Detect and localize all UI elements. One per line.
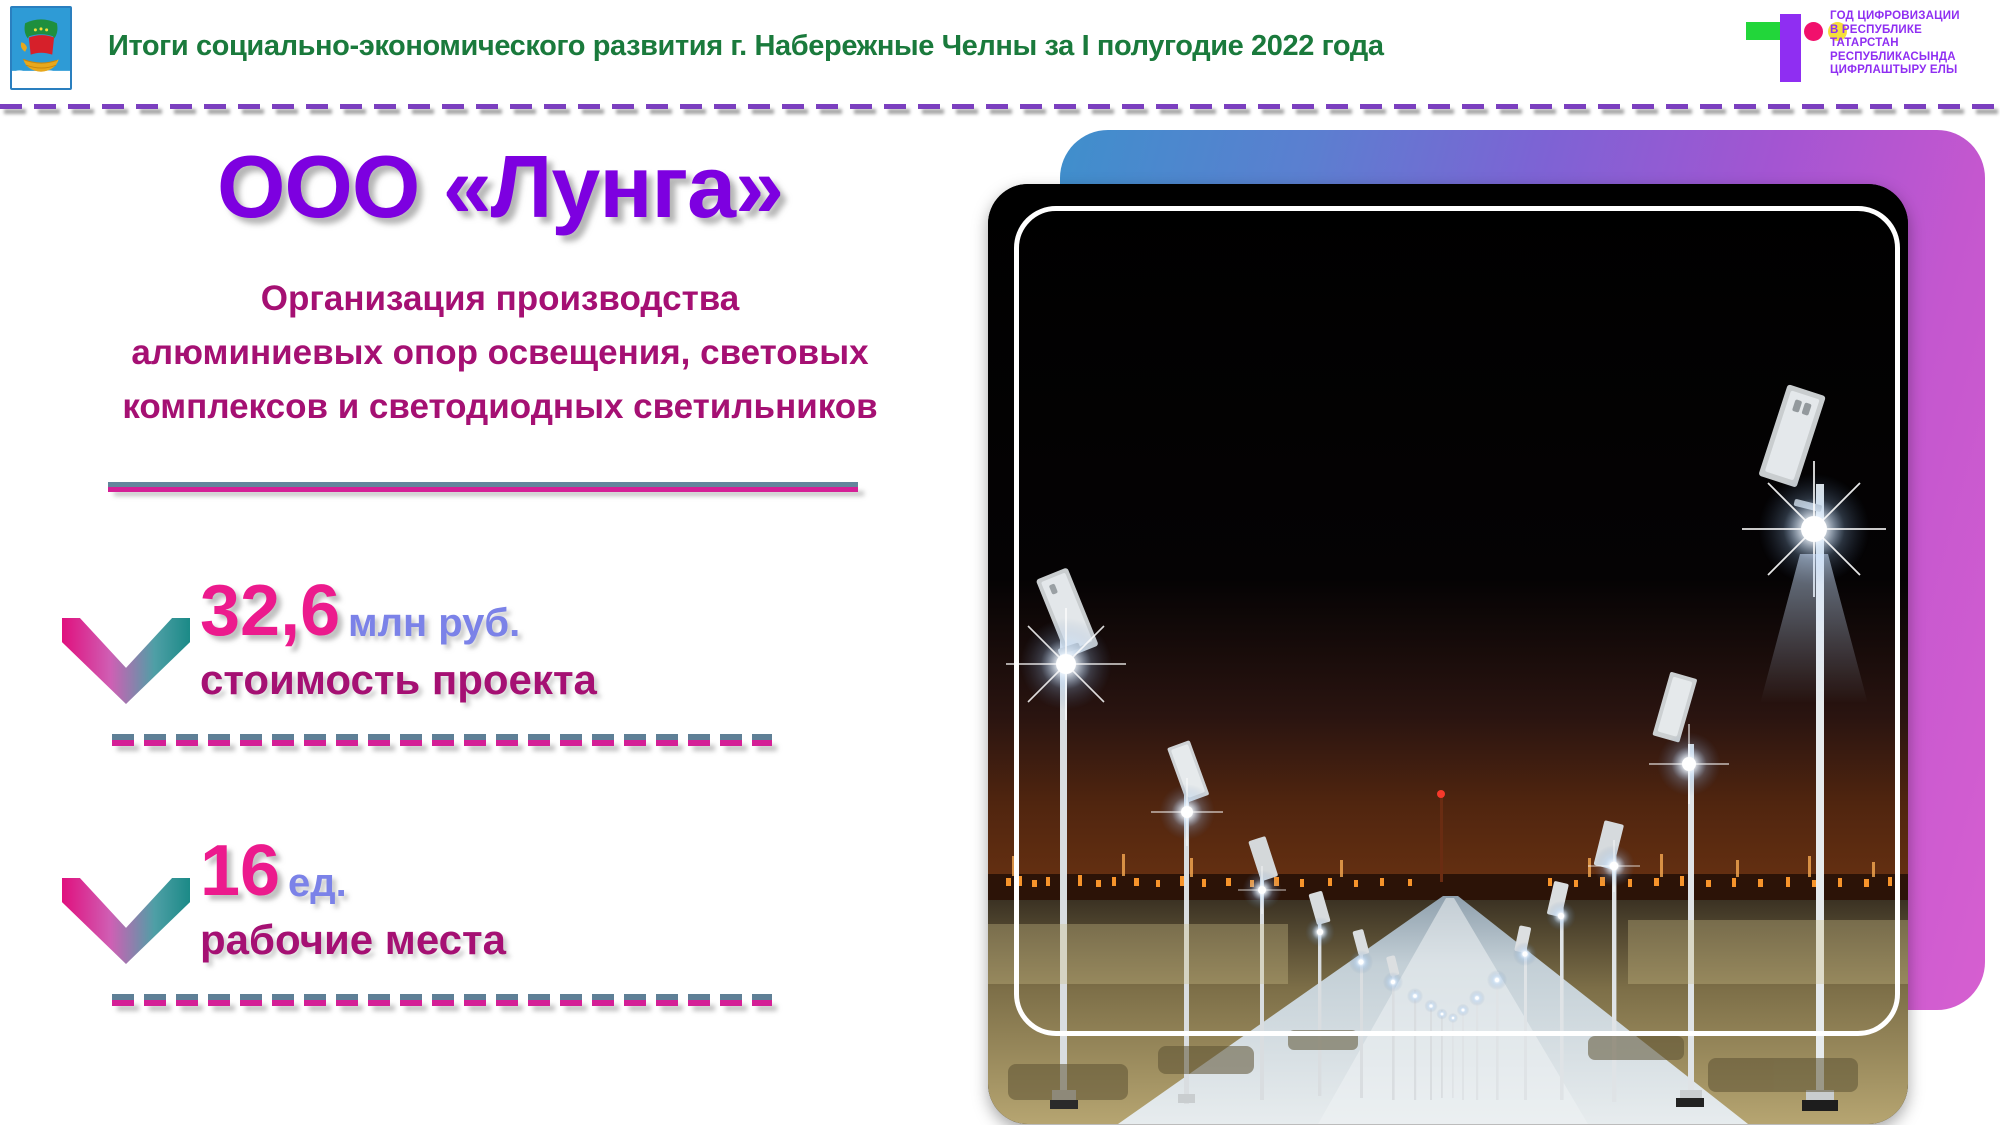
stat-divider-bottom xyxy=(112,740,772,746)
logo-caption-line-3: ТАТАРСТАН xyxy=(1830,37,1992,51)
logo-pink-dot-icon xyxy=(1804,22,1823,41)
logo-purple-stem xyxy=(1780,14,1801,82)
description-divider xyxy=(108,482,858,492)
company-description: Организация производства алюминиевых опо… xyxy=(30,272,970,434)
content-left-column: ООО «Лунга» Организация производства алю… xyxy=(0,112,1000,1125)
stat-label: рабочие места xyxy=(200,914,506,966)
logo-mark-icon xyxy=(1746,10,1820,82)
night-road-photo-svg xyxy=(988,184,1908,1124)
description-line-1: Организация производства xyxy=(30,272,970,326)
logo-caption-line-5: ЦИФРЛАШТЫРУ ЕЛЫ xyxy=(1830,64,1992,78)
chevron-down-icon xyxy=(62,618,190,704)
logo-caption-line-4: РЕСПУБЛИКАСЫНДА xyxy=(1830,51,1992,65)
chevron-down-icon xyxy=(62,878,190,964)
stat-dashed-divider xyxy=(112,734,772,750)
coat-of-arms-icon xyxy=(10,6,72,90)
stat-divider-bottom xyxy=(112,1000,772,1006)
photo-panel xyxy=(1060,130,2000,1125)
logo-caption: ГОД ЦИФРОВИЗАЦИИ В РЕСПУБЛИКЕ ТАТАРСТАН … xyxy=(1830,10,1992,78)
stat-value: 32,6 xyxy=(200,572,340,650)
stat-label: стоимость проекта xyxy=(200,654,597,706)
description-divider-bottom xyxy=(108,487,858,492)
stat-unit: ед. xyxy=(288,858,347,908)
night-road-photo xyxy=(988,184,1908,1124)
coat-of-arms-svg xyxy=(12,8,70,88)
description-line-3: комплексов и светодиодных светильников xyxy=(30,380,970,434)
description-line-2: алюминиевых опор освещения, световых xyxy=(30,326,970,380)
logo-caption-line-1: ГОД ЦИФРОВИЗАЦИИ xyxy=(1830,10,1992,24)
stat-unit: млн руб. xyxy=(348,598,520,648)
dashed-divider-line xyxy=(0,104,2000,109)
stat-dashed-divider xyxy=(112,994,772,1010)
logo-caption-line-2: В РЕСПУБЛИКЕ xyxy=(1830,24,1992,38)
slide-header: Итоги социально-экономического развития … xyxy=(0,0,2000,112)
page-title: Итоги социально-экономического развития … xyxy=(108,30,1384,63)
tatarstan-digitalization-logo: ГОД ЦИФРОВИЗАЦИИ В РЕСПУБЛИКЕ ТАТАРСТАН … xyxy=(1720,4,1992,86)
stat-value: 16 xyxy=(200,832,280,910)
company-name-heading: ООО «Лунга» xyxy=(0,136,1000,238)
